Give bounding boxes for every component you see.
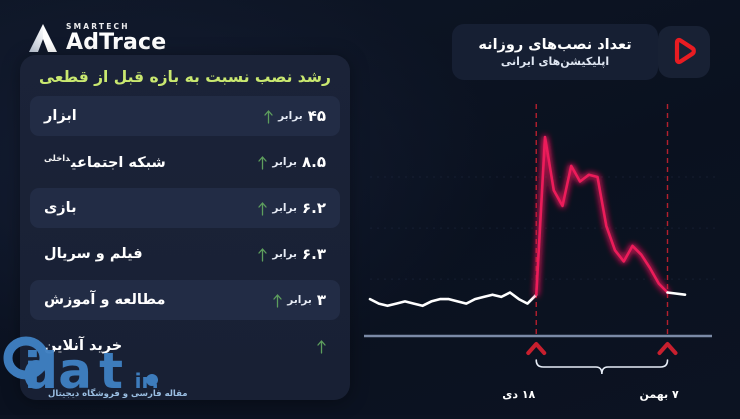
chevron-up-marker — [528, 344, 544, 353]
chart-subtitle: اپلیکیشن‌های ایرانی — [501, 55, 609, 68]
growth-row-value: ۴۵برابر — [264, 107, 326, 125]
chart-header: تعداد نصب‌های روزانه اپلیکیشن‌های ایرانی — [452, 24, 718, 80]
watermark-subtitle: مقاله فارسی و فروشگاه دیجیتال — [48, 389, 187, 399]
growth-row-label: مطالعه و آموزش — [44, 292, 165, 308]
brand-sup: SMARTECH — [66, 23, 166, 31]
growth-row-label: شبکه اجتماعیداخلی — [44, 154, 166, 171]
growth-row-value: ۶.۳برابر — [258, 245, 326, 263]
chart-svg — [360, 96, 730, 396]
growth-row-value — [317, 339, 326, 353]
chevron-up-marker — [660, 344, 676, 353]
arrow-up-icon — [273, 293, 282, 307]
growth-row-number: ۳ — [317, 291, 326, 309]
chart-axis-labels: ۱۸ دی ۷ بهمن — [360, 358, 730, 388]
axis-label-end: ۷ بهمن — [640, 388, 679, 401]
growth-row-label: فیلم و سریال — [44, 246, 143, 262]
chart-title: تعداد نصب‌های روزانه — [478, 37, 631, 53]
axis-label-start: ۱۸ دی — [502, 388, 535, 401]
growth-row-list: ۴۵برابرابزار۸.۵برابرشبکه اجتماعیداخلی۶.۲… — [20, 96, 350, 366]
growth-row: ۸.۵برابرشبکه اجتماعیداخلی — [30, 142, 340, 182]
growth-row-number: ۶.۳ — [302, 245, 326, 263]
poster-canvas: SMARTECH AdTrace رشد نصب نسبت به بازه قب… — [0, 0, 740, 415]
chart-header-text: تعداد نصب‌های روزانه اپلیکیشن‌های ایرانی — [452, 24, 658, 80]
growth-row-unit: برابر — [278, 110, 303, 122]
svg-text:g: g — [0, 334, 2, 407]
growth-row-label-sup: داخلی — [44, 154, 70, 164]
growth-row-value: ۸.۵برابر — [258, 153, 326, 171]
arrow-up-icon — [264, 109, 273, 123]
growth-row-unit: برابر — [287, 294, 312, 306]
card-title: رشد نصب نسبت به بازه قبل از قطعی — [20, 55, 350, 96]
growth-row-value: ۳برابر — [273, 291, 326, 309]
growth-row-number: ۴۵ — [308, 107, 326, 125]
brand-logo: SMARTECH AdTrace — [28, 22, 166, 54]
growth-row-number: ۶.۲ — [302, 199, 326, 217]
arrow-up-icon — [258, 155, 267, 169]
arrow-up-icon — [258, 201, 267, 215]
chart-series-line — [668, 293, 686, 295]
growth-row: ۶.۲برابربازی — [30, 188, 340, 228]
brand-name: AdTrace — [66, 32, 166, 54]
arrow-up-icon — [317, 339, 326, 353]
growth-row: ۶.۳برابرفیلم و سریال — [30, 234, 340, 274]
growth-row-value: ۶.۲برابر — [258, 199, 326, 217]
growth-row-unit: برابر — [272, 248, 297, 260]
growth-row: ۴۵برابرابزار — [30, 96, 340, 136]
play-button-icon — [658, 26, 710, 78]
growth-row-unit: برابر — [272, 156, 297, 168]
install-line-chart — [360, 96, 730, 396]
growth-row-unit: برابر — [272, 202, 297, 214]
arrow-up-mountain-icon — [28, 22, 58, 54]
growth-row: ۳برابرمطالعه و آموزش — [30, 280, 340, 320]
watermark: g i d a t .ir مقاله فارسی و فروشگاه دیجی… — [0, 330, 211, 415]
chart-series-line — [536, 137, 667, 295]
growth-row-label: ابزار — [44, 108, 77, 124]
growth-row-label: بازی — [44, 200, 77, 216]
chart-series-line — [370, 293, 536, 306]
arrow-up-icon — [258, 247, 267, 261]
growth-row-number: ۸.۵ — [302, 153, 326, 171]
